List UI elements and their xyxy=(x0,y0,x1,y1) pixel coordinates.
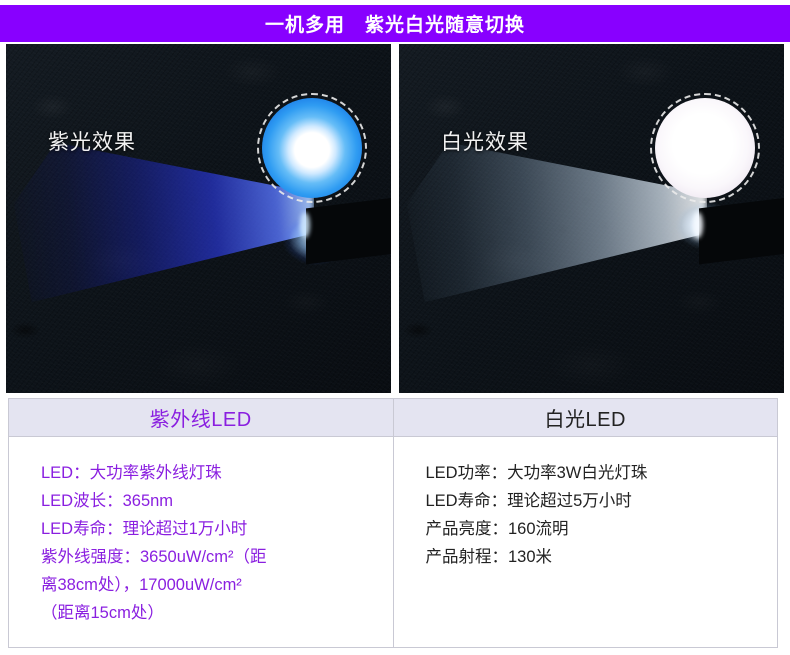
banner-title: 一机多用 紫光白光随意切换 xyxy=(265,10,525,37)
spec-line: （距离15cm处） xyxy=(41,599,367,627)
spec-table: 紫外线LED 白光LED LED：大功率紫外线灯珠 LED波长：365nm LE… xyxy=(8,398,778,648)
page-banner: 一机多用 紫光白光随意切换 xyxy=(0,5,790,42)
spec-header-cell-uv: 紫外线LED xyxy=(9,399,394,436)
spec-line: LED功率：大功率3W白光灯珠 xyxy=(426,459,752,487)
product-detail-page: 一机多用 紫光白光随意切换 紫光效果 xyxy=(0,0,790,655)
spec-line: 产品亮度：160流明 xyxy=(426,515,752,543)
photo-white-effect: 白光效果 xyxy=(399,44,784,393)
spec-line: LED波长：365nm xyxy=(41,487,367,515)
uv-beam-circle-fill xyxy=(262,98,362,198)
spec-line: LED寿命：理论超过1万小时 xyxy=(41,515,367,543)
spec-line: 产品射程：130米 xyxy=(426,543,752,571)
white-beam-circle-fill xyxy=(655,98,755,198)
spec-body-cell-white: LED功率：大功率3W白光灯珠 LED寿命：理论超过5万小时 产品亮度：160流… xyxy=(394,437,778,647)
spec-body-cell-uv: LED：大功率紫外线灯珠 LED波长：365nm LED寿命：理论超过1万小时 … xyxy=(9,437,394,647)
spec-line: LED寿命：理论超过5万小时 xyxy=(426,487,752,515)
spec-line: 离38cm处），17000uW/cm² xyxy=(41,571,367,599)
photo-comparison-strip: 紫光效果 白光效果 xyxy=(0,44,790,393)
uv-beam-circle-icon xyxy=(257,93,367,203)
spec-table-header-row: 紫外线LED 白光LED xyxy=(9,399,777,437)
photo-uv-effect: 紫光效果 xyxy=(6,44,391,393)
spec-header-cell-white: 白光LED xyxy=(394,399,778,436)
photo-label-uv: 紫光效果 xyxy=(48,126,136,156)
flashlight-lens-glow xyxy=(300,212,310,238)
white-beam-circle-icon xyxy=(650,93,760,203)
flashlight-silhouette xyxy=(699,198,784,264)
spec-table-body-row: LED：大功率紫外线灯珠 LED波长：365nm LED寿命：理论超过1万小时 … xyxy=(9,437,777,647)
spec-header-label-uv: 紫外线LED xyxy=(150,403,252,432)
photo-label-white: 白光效果 xyxy=(441,126,529,156)
spec-line: LED：大功率紫外线灯珠 xyxy=(41,459,367,487)
spec-line: 紫外线强度：3650uW/cm²（距 xyxy=(41,543,367,571)
spec-header-label-white: 白光LED xyxy=(545,403,626,432)
flashlight-silhouette xyxy=(306,198,391,264)
flashlight-lens-glow xyxy=(693,212,703,238)
